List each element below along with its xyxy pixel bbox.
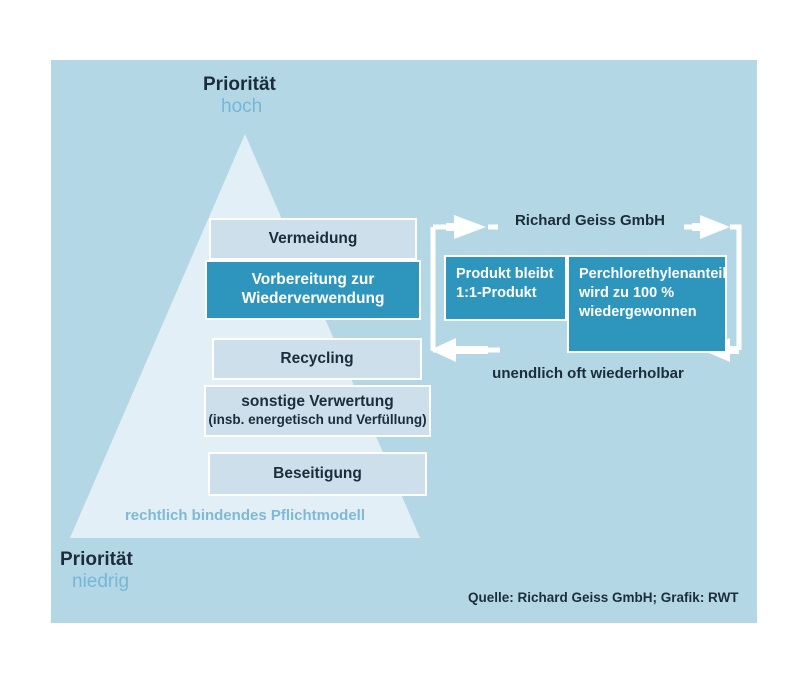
cycle-diagram: Richard Geiss GmbH Produkt bleibt 1:1-Pr…	[430, 205, 742, 390]
priority-low-value: niedrig	[60, 571, 133, 593]
infographic-canvas: Priorität hoch Vermeidung Vorbereitung z…	[0, 0, 800, 674]
pyramid-level-label: Recycling	[280, 350, 353, 369]
pyramid-level-recycling[interactable]: Recycling	[212, 338, 422, 380]
priority-high-value: hoch	[203, 96, 276, 118]
pyramid-level-beseitigung[interactable]: Beseitigung	[208, 452, 427, 496]
pyramid-level-label: Beseitigung	[273, 465, 362, 484]
cycle-box-line3: wiedergewonnen	[579, 304, 697, 320]
pyramid-level-sublabel: (insb. energetisch und Verfüllung)	[208, 412, 426, 428]
pyramid-level-sonstige-verwertung[interactable]: sonstige Verwertung (insb. energetisch u…	[204, 385, 431, 437]
arrow-left-icon-bottom-left	[430, 338, 488, 362]
pyramid-base-caption: rechtlich bindendes Pflichtmodell	[90, 507, 400, 524]
arrow-right-icon-top-right	[692, 215, 730, 239]
cycle-box-line1: Produkt bleibt	[456, 266, 553, 282]
cycle-box-produkt-bleibt[interactable]: Produkt bleibt 1:1-Produkt	[444, 255, 567, 321]
pyramid-level-sublabel: Wiederverwendung	[242, 290, 385, 309]
pyramid-level-vorbereitung-zur-wiederverwendung[interactable]: Vorbereitung zur Wiederverwendung	[205, 260, 421, 320]
pyramid-level-label: Vorbereitung zur	[252, 271, 375, 288]
pyramid-level-label: sonstige Verwertung	[241, 393, 393, 410]
cycle-box-line2: 1:1-Produkt	[456, 285, 537, 301]
cycle-box-line1: Perchlorethylenanteil	[579, 266, 726, 282]
arrow-right-icon-top-left	[446, 215, 486, 239]
priority-high-title: Priorität	[203, 74, 276, 96]
priority-low-title: Priorität	[60, 549, 133, 571]
pyramid-level-label: Vermeidung	[269, 230, 358, 249]
cycle-box-perchlorethylenanteil[interactable]: Perchlorethylenanteil wird zu 100 % wied…	[567, 255, 727, 353]
pyramid-level-vermeidung[interactable]: Vermeidung	[209, 218, 417, 260]
source-note: Quelle: Richard Geiss GmbH; Grafik: RWT	[468, 590, 739, 605]
priority-high-label: Priorität hoch	[203, 74, 276, 119]
cycle-top-label: Richard Geiss GmbH	[500, 212, 680, 229]
cycle-bottom-label: unendlich oft wiederholbar	[478, 365, 698, 382]
priority-low-label: Priorität niedrig	[60, 549, 133, 594]
cycle-box-line2: wird zu 100 %	[579, 285, 674, 301]
